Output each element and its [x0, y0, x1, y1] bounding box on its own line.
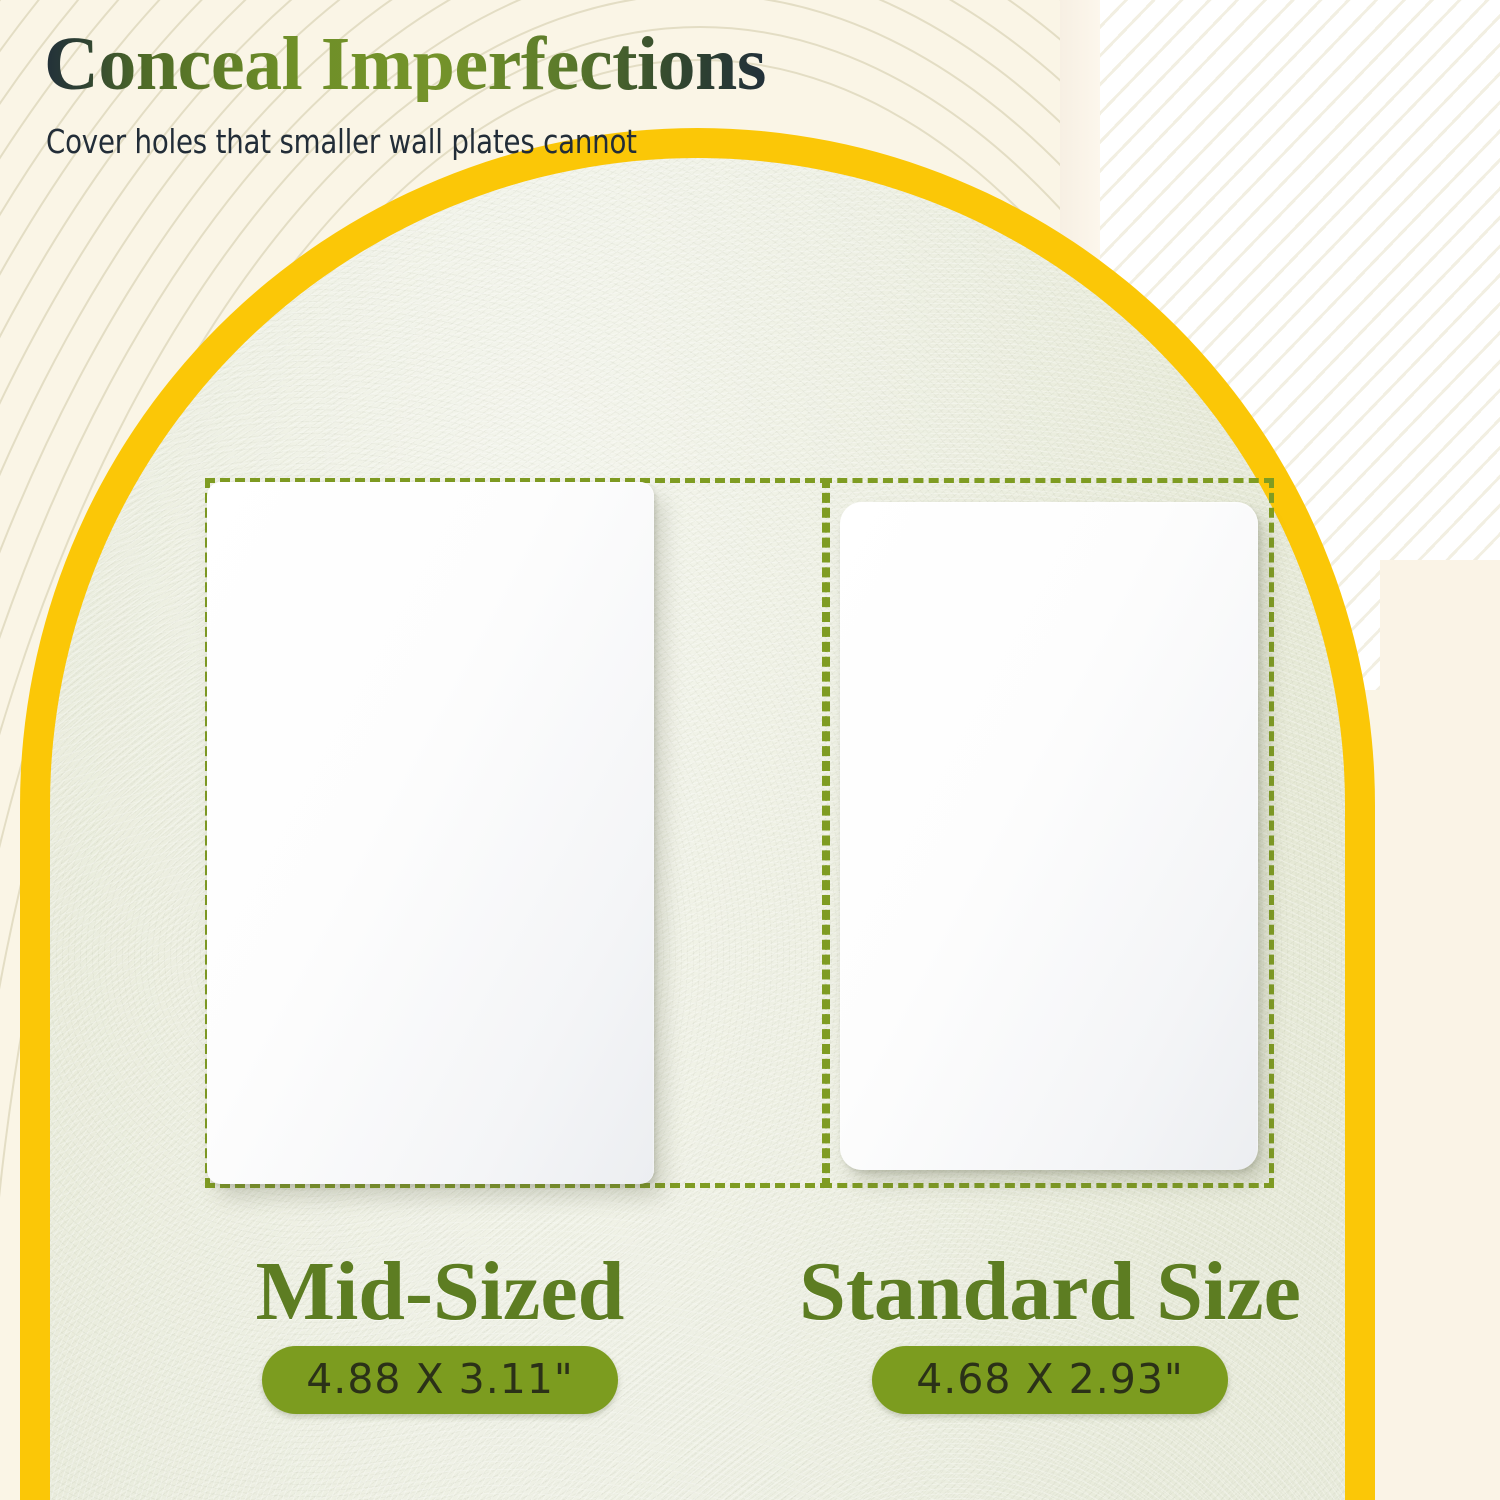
wall-plate-standard [840, 502, 1258, 1170]
page-title: Conceal Imperfections [44, 26, 766, 102]
page-subtitle: Cover holes that smaller wall plates can… [46, 122, 637, 161]
label-group-standard: Standard Size 4.68 X 2.93" [760, 1248, 1340, 1414]
dimension-badge-mid-sized: 4.88 X 3.11" [262, 1346, 618, 1414]
infographic-canvas: Conceal Imperfections Cover holes that s… [0, 0, 1500, 1500]
wall-plate-mid-sized [207, 482, 654, 1184]
dimension-badge-standard: 4.68 X 2.93" [872, 1346, 1228, 1414]
right-cream-block [1380, 560, 1500, 1500]
product-name-standard: Standard Size [760, 1248, 1340, 1336]
label-group-mid-sized: Mid-Sized 4.88 X 3.11" [155, 1248, 725, 1414]
product-name-mid-sized: Mid-Sized [155, 1248, 725, 1336]
